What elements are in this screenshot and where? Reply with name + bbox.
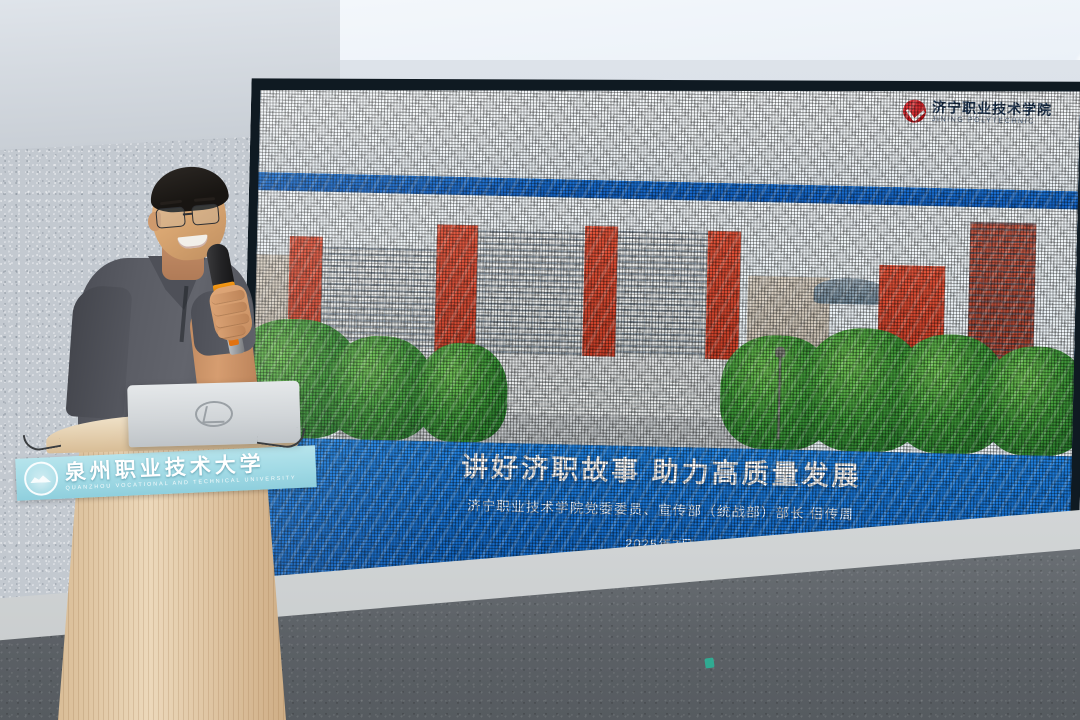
logo-name-cn: 济宁职业技术学院 xyxy=(932,100,1052,117)
institution-logo: 济宁职业技术学院 JINING POLYTECHNIC xyxy=(903,99,1053,126)
university-seal-icon xyxy=(23,461,59,497)
speaker-left-shoulder xyxy=(65,284,132,420)
campus-photograph xyxy=(252,191,1078,457)
hp-logo-icon xyxy=(195,400,234,427)
swoosh-seal-icon xyxy=(903,99,927,123)
floor-marker xyxy=(704,657,714,668)
presentation-photo-scene: 济宁职业技术学院 JINING POLYTECHNIC xyxy=(0,0,1080,720)
